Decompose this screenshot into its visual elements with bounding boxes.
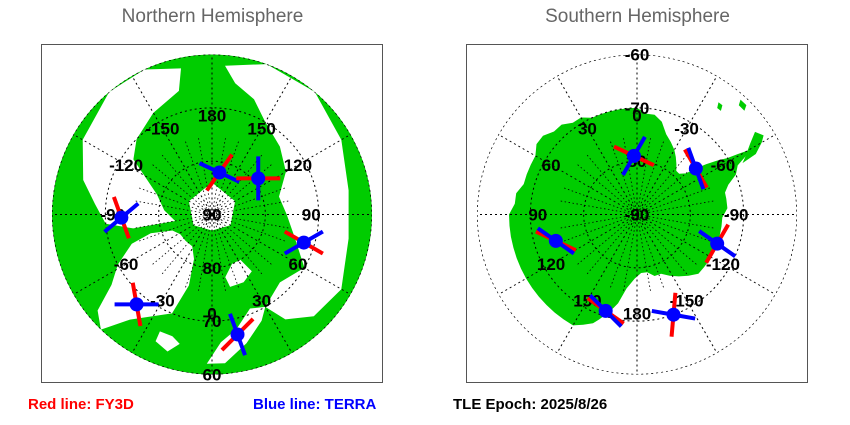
satellite-marker-dot	[689, 162, 703, 176]
lat-tick-label: 60	[203, 366, 222, 383]
page-title-north: Northern Hemisphere	[0, 6, 425, 28]
figure-root: Northern Hemisphere 1801501209060300-30-…	[0, 0, 850, 425]
lat-tick-label: 70	[203, 312, 222, 331]
plot-frame-north: 1801501209060300-30-60-90-120-1509080706…	[41, 44, 383, 383]
polar-plot-south: 0306090120150180-150-120-90-60-30-9080-7…	[467, 45, 807, 382]
lat-tick-label: -70	[625, 99, 650, 118]
lon-label: -60	[114, 255, 139, 274]
legend-red-line: Red line: FY3D	[28, 396, 134, 413]
lon-label: -90	[724, 206, 749, 225]
lon-label: 60	[288, 255, 307, 274]
satellite-marker-dot	[549, 234, 563, 248]
lon-label: -60	[711, 156, 736, 175]
lat-tick-label: 90	[203, 206, 222, 225]
satellite-marker-dot	[231, 327, 245, 341]
lat-tick-label: 80	[203, 259, 222, 278]
tle-epoch-label: TLE Epoch: 2025/8/26	[453, 396, 607, 413]
lon-label: -120	[109, 156, 143, 175]
satellite-marker-dot	[627, 149, 641, 163]
lat-tick-label: -90	[625, 206, 650, 225]
plot-frame-south: 0306090120150180-150-120-90-60-30-9080-7…	[466, 44, 808, 383]
lon-label: 90	[302, 206, 321, 225]
satellite-marker-dot	[710, 237, 724, 251]
satellite-marker-dot	[212, 165, 226, 179]
page-title-south: Southern Hemisphere	[425, 6, 850, 28]
lon-label: -150	[145, 120, 179, 139]
satellite-marker-dot	[130, 297, 144, 311]
lon-label: 60	[542, 156, 561, 175]
satellite-marker-dot	[251, 171, 265, 185]
satellite-marker-dot	[666, 308, 680, 322]
lon-label: 120	[284, 156, 312, 175]
lon-label: -30	[150, 291, 175, 310]
lon-label: 30	[252, 291, 271, 310]
lon-label: 180	[623, 305, 651, 324]
panel-northern-hemisphere: Northern Hemisphere 1801501209060300-30-…	[0, 0, 425, 425]
satellite-marker-dot	[114, 211, 128, 225]
legend-blue-line: Blue line: TERRA	[253, 396, 376, 413]
satellite-marker-dot	[599, 304, 613, 318]
satellite-marker-dot	[297, 236, 311, 250]
lon-label: 120	[537, 255, 565, 274]
lon-label: 150	[247, 120, 275, 139]
polar-plot-north: 1801501209060300-30-60-90-120-1509080706…	[42, 45, 382, 382]
lon-label: 30	[578, 120, 597, 139]
lon-label: -30	[674, 120, 699, 139]
lon-label: 180	[198, 106, 226, 125]
lon-label: 90	[528, 206, 547, 225]
panel-southern-hemisphere: Southern Hemisphere 0306090120150180-150…	[425, 0, 850, 425]
lat-tick-label: -60	[625, 46, 650, 65]
